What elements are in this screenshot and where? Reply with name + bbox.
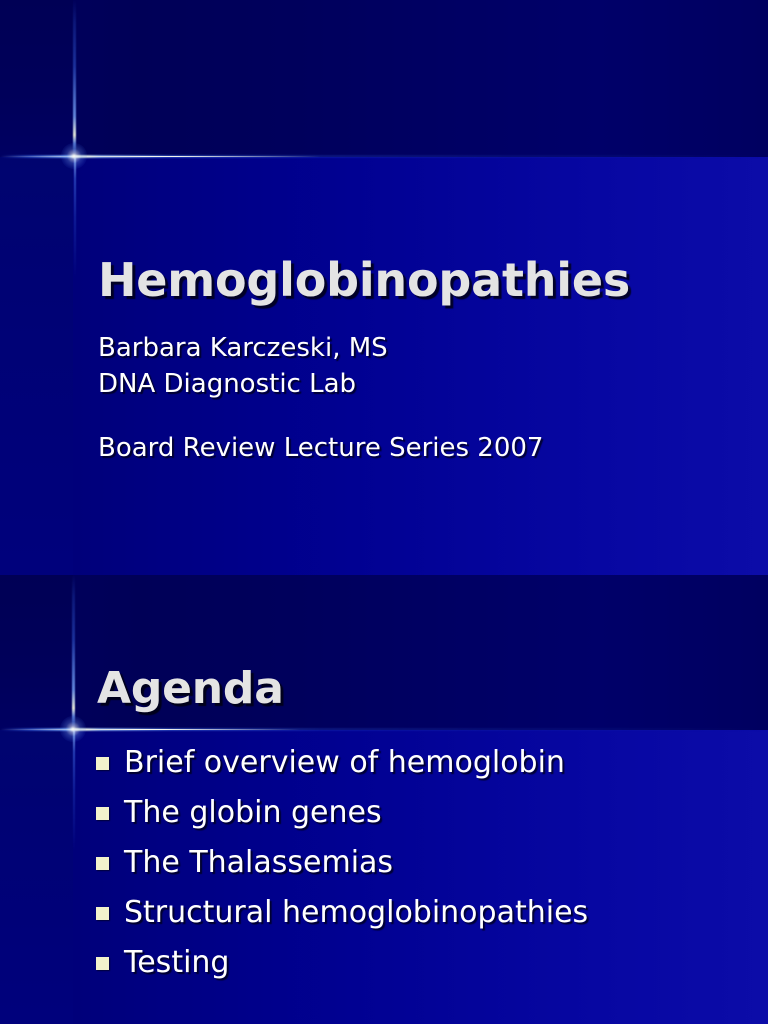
subtitle-spacer <box>98 402 543 430</box>
list-item-label: Testing <box>124 945 229 981</box>
square-bullet-icon <box>96 957 109 970</box>
slide-agenda: Agenda Brief overview of hemoglobin The … <box>0 575 768 1024</box>
square-bullet-icon <box>96 857 109 870</box>
square-bullet-icon <box>96 907 109 920</box>
page-title: Agenda <box>97 663 284 715</box>
slide-agenda-text-layer: Agenda Brief overview of hemoglobin The … <box>0 575 768 1024</box>
presenter-name: Barbara Karczeski, MS <box>98 330 543 366</box>
list-item: The globin genes <box>96 795 588 831</box>
square-bullet-icon <box>96 807 109 820</box>
list-item-label: The Thalassemias <box>124 845 393 881</box>
presenter-affiliation: DNA Diagnostic Lab <box>98 366 543 402</box>
list-item-label: Brief overview of hemoglobin <box>124 745 565 781</box>
list-item: Structural hemoglobinopathies <box>96 895 588 931</box>
list-item-label: Structural hemoglobinopathies <box>124 895 588 931</box>
title-subtitle-block: Barbara Karczeski, MS DNA Diagnostic Lab… <box>98 330 543 466</box>
lecture-series-label: Board Review Lecture Series 2007 <box>98 430 543 466</box>
slide-title-text-layer: Hemoglobinopathies Barbara Karczeski, MS… <box>0 0 768 575</box>
list-item: The Thalassemias <box>96 845 588 881</box>
agenda-bullet-list: Brief overview of hemoglobin The globin … <box>96 745 588 995</box>
list-item: Testing <box>96 945 588 981</box>
list-item-label: The globin genes <box>124 795 382 831</box>
page-title: Hemoglobinopathies <box>98 253 630 307</box>
square-bullet-icon <box>96 757 109 770</box>
slide-deck: Hemoglobinopathies Barbara Karczeski, MS… <box>0 0 768 1024</box>
slide-title: Hemoglobinopathies Barbara Karczeski, MS… <box>0 0 768 575</box>
list-item: Brief overview of hemoglobin <box>96 745 588 781</box>
